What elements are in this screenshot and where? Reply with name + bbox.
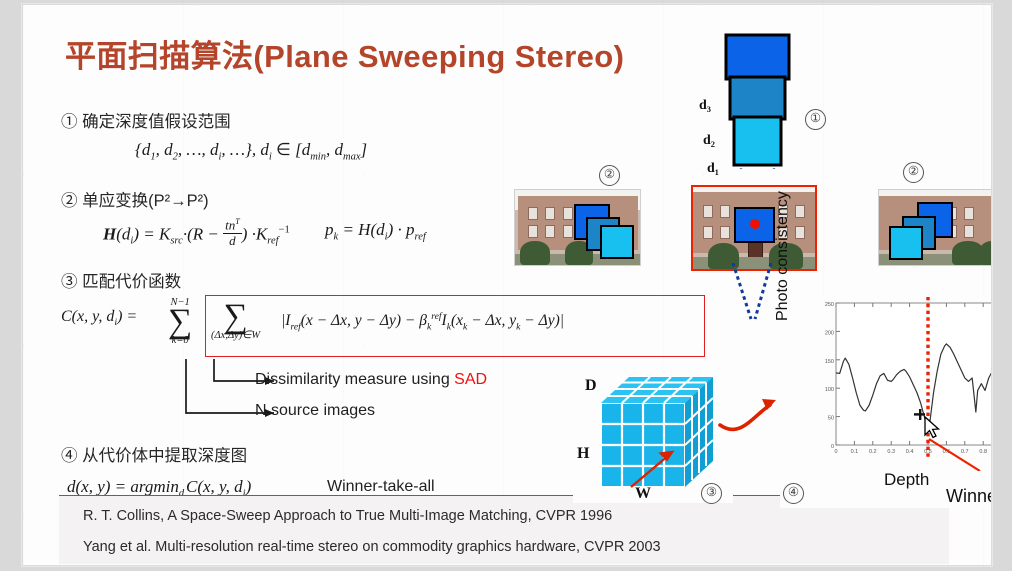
cost-formula-highlight-box [205,295,705,357]
chart-y-axis-label: Photo consistency [774,191,792,321]
diagram-marker-3: ③ [701,483,722,504]
svg-text:0.4: 0.4 [906,449,914,455]
bush-element [520,241,550,265]
svg-text:0.2: 0.2 [869,449,877,455]
window-element [545,207,555,220]
window-element [563,225,573,238]
slide-canvas: 平面扫描算法(Plane Sweeping Stereo) ① 确定深度值假设范… [22,4,992,566]
step-2-marker: ② [61,192,78,210]
projected-patch-d1 [889,226,923,260]
reference-point-marker [750,219,760,229]
diagram-marker-2-right: ② [903,162,924,183]
cost-volume-diagram: D H W [573,363,733,503]
chart-x-axis-label: Depth [884,470,929,490]
reference-2: Yang et al. Multi-resolution real-time s… [83,539,661,555]
svg-text:0.8: 0.8 [979,449,987,455]
diagram-marker-2-left: ② [599,165,620,186]
diagram-marker-1: ① [805,109,826,130]
svg-text:100: 100 [825,387,834,393]
source-view-right-photo [878,189,992,266]
step-2: ② 单应变换(P²→P²) [61,187,209,211]
step-1-marker: ① [61,113,78,131]
chart-plot-area: 05010015020025000.10.20.30.40.50.60.70.8… [814,293,992,471]
formula-projection: pk = H(di) · pref [325,220,426,242]
step-4-label: 从代价体中提取深度图 [82,447,247,465]
formula-homography: H(di) = Ksrc·(R − tnT d ) ·Kref−1 [103,217,290,249]
window-element [720,205,730,218]
move-cursor-icon [912,408,946,442]
window-element [545,225,555,238]
plane-sweep-diagram: d₃ d₂ d₁ [683,19,823,179]
depth-plane-label-d3: d₃ [699,98,711,114]
cost-volume-label-width: W [635,485,651,503]
window-element [703,226,713,239]
window-element [964,225,974,238]
window-element [563,207,573,220]
window-element [795,226,805,239]
window-element [703,205,713,218]
reference-1: R. T. Collins, A Space-Sweep Approach to… [83,508,612,524]
formula-depth-range: {d1, d2, …, di, …}, di ∈ [dmin, dmax] [135,140,367,162]
svg-text:0.1: 0.1 [851,449,859,455]
step-2-label: 单应变换(P²→P²) [82,192,209,210]
window-element [528,225,538,238]
annotation-n-source-images: N source images [255,402,375,420]
svg-text:0.3: 0.3 [887,449,895,455]
window-element [795,205,805,218]
source-view-left-photo [514,189,641,266]
step-1-label: 确定深度值假设范围 [82,113,231,131]
sum-lower-limit: k=0 [168,335,192,346]
depth-plane-label-d1: d₁ [707,161,719,177]
window-element [964,207,974,220]
cost-volume-label-depth: D [585,377,597,395]
chart-winner-label: Winner [946,486,992,507]
projected-patch-d1 [600,225,634,259]
annotation-dissimilarity-text: Dissimilarity measure using [255,371,454,388]
svg-text:50: 50 [828,416,834,422]
window-element [720,226,730,239]
svg-text:0: 0 [834,449,837,455]
annotation-winner-take-all: Winner-take-all [327,478,435,496]
depth-plane-label-d2: d₂ [703,133,715,149]
step-3-marker: ③ [61,273,78,291]
step-3: ③ 匹配代价函数 [61,268,181,292]
step-3-label: 匹配代价函数 [82,273,181,291]
svg-text:150: 150 [825,359,834,365]
step-1: ① 确定深度值假设范围 [61,108,231,132]
page-title: 平面扫描算法(Plane Sweeping Stereo) [65,31,624,76]
photo-consistency-chart: Photo consistency 05010015020025000.10.2… [780,293,992,508]
formula-cost-lhs: C(x, y, di) = [61,308,137,328]
annotation-sad-metric: SAD [454,371,487,388]
window-element [528,207,538,220]
cost-volume-svg [573,363,733,503]
diagram-marker-4: ④ [783,483,804,504]
svg-text:200: 200 [825,330,834,336]
step-4: ④ 从代价体中提取深度图 [61,442,247,466]
step-4-marker: ④ [61,447,78,465]
reference-view-photo [691,185,817,271]
svg-text:0.7: 0.7 [961,449,969,455]
bush-element [979,241,992,265]
cost-volume-label-height: H [577,445,589,463]
annotation-dissimilarity: Dissimilarity measure using SAD [255,371,487,389]
formula-cost-outer-sum: N−1 ∑ k=0 [168,297,192,346]
svg-text:250: 250 [825,302,834,308]
